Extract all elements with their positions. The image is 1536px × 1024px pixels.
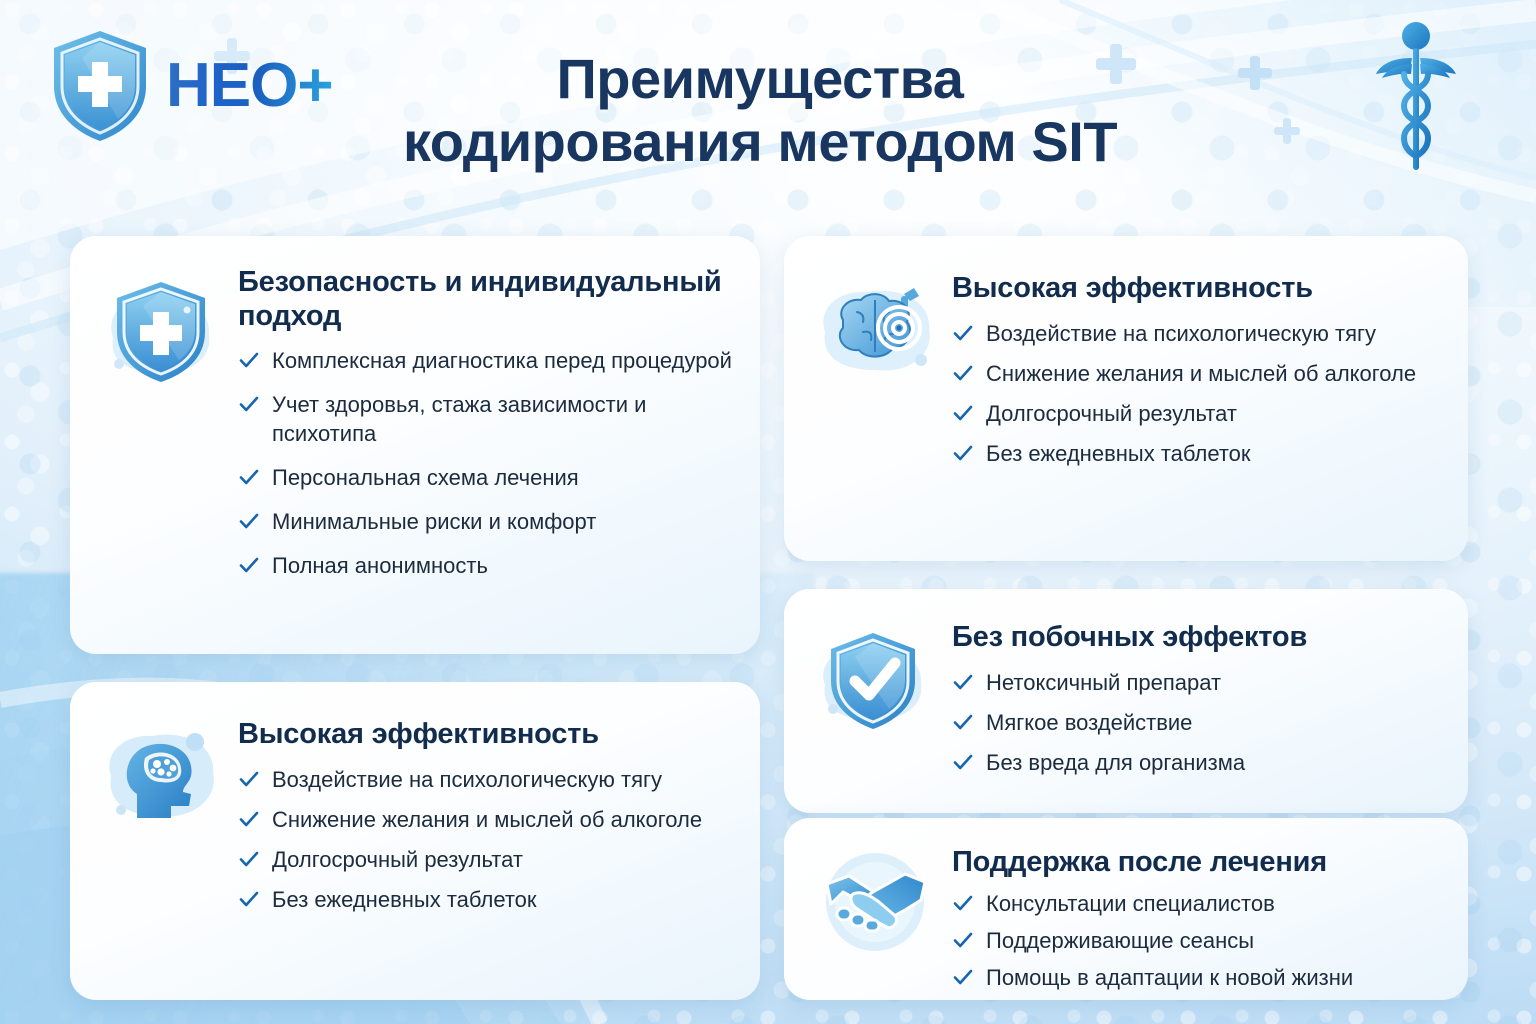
check-icon <box>238 349 260 371</box>
list-item-text: Полная анонимность <box>272 553 488 578</box>
list-item: Воздействие на психологическую тягу <box>238 766 734 794</box>
card-efficiency-top[interactable]: Высокая эффективность Воздействие на пси… <box>784 236 1468 561</box>
list-item: Полная анонимность <box>238 552 734 580</box>
list-item-text: Комплексная диагностика перед процедурой <box>272 348 732 373</box>
list-item: Воздействие на психологическую тягу <box>952 320 1442 348</box>
list-item-text: Учет здоровья, стажа зависимости и психо… <box>272 392 646 445</box>
card-safety[interactable]: Безопасность и индивидуальный подход Ком… <box>70 236 760 654</box>
check-icon <box>952 892 974 914</box>
caduceus-icon <box>1374 18 1458 178</box>
head-brain-icon <box>95 720 231 840</box>
list-item-text: Воздействие на психологическую тягу <box>272 767 662 792</box>
list-item: Снижение желания и мыслей об алкоголе <box>952 360 1442 388</box>
check-icon <box>238 808 260 830</box>
header: НЕО+ Преимущества кодирования методом SI… <box>0 0 1536 210</box>
list-item: Нетоксичный препарат <box>952 669 1442 697</box>
brain-target-icon <box>809 274 945 394</box>
list-item-text: Помощь в адаптации к новой жизни <box>986 965 1353 990</box>
list-item-text: Персональная схема лечения <box>272 465 579 490</box>
check-icon <box>238 554 260 576</box>
list-item-text: Консультации специалистов <box>986 891 1275 916</box>
list-item-text: Снижение желания и мыслей об алкоголе <box>272 807 702 832</box>
list-item: Снижение желания и мыслей об алкоголе <box>238 806 734 834</box>
brand-logo[interactable]: НЕО+ <box>48 28 333 144</box>
card-no-side-effects[interactable]: Без побочных эффектов Нетоксичный препар… <box>784 589 1468 813</box>
card-icon-wrap <box>88 258 238 636</box>
check-icon <box>952 966 974 988</box>
check-icon <box>952 402 974 424</box>
card-bullet-list: Нетоксичный препарат Мягкое воздействие … <box>952 669 1442 777</box>
list-item-text: Нетоксичный препарат <box>986 670 1221 695</box>
card-bullet-list: Воздействие на психологическую тягу Сниж… <box>238 766 734 915</box>
card-title: Безопасность и индивидуальный подход <box>238 266 734 333</box>
card-icon-wrap <box>802 264 952 543</box>
list-item: Учет здоровья, стажа зависимости и психо… <box>238 391 734 447</box>
list-item: Мягкое воздействие <box>952 709 1442 737</box>
list-item: Поддерживающие сеансы <box>952 927 1442 955</box>
list-item: Без ежедневных таблеток <box>238 886 734 914</box>
handshake-icon <box>809 848 945 956</box>
check-icon <box>238 510 260 532</box>
card-bullet-list: Консультации специалистов Поддерживающие… <box>952 890 1442 992</box>
check-icon <box>952 751 974 773</box>
list-item: Без ежедневных таблеток <box>952 440 1442 468</box>
list-item-text: Без вреда для организма <box>986 750 1245 775</box>
page-title: Преимущества кодирования методом SIT <box>300 48 1220 173</box>
list-item-text: Минимальные риски и комфорт <box>272 509 596 534</box>
list-item: Минимальные риски и комфорт <box>238 508 734 536</box>
list-item-text: Без ежедневных таблеток <box>986 441 1251 466</box>
list-item: Долгосрочный результат <box>952 400 1442 428</box>
card-efficiency-bottom[interactable]: Высокая эффективность Воздействие на пси… <box>70 682 760 1000</box>
list-item-text: Без ежедневных таблеток <box>272 887 537 912</box>
card-title: Поддержка после лечения <box>952 846 1442 880</box>
card-title: Высокая эффективность <box>238 718 734 752</box>
check-icon <box>238 888 260 910</box>
card-icon-wrap <box>88 710 238 982</box>
card-bullet-list: Комплексная диагностика перед процедурой… <box>238 347 734 580</box>
card-title: Высокая эффективность <box>952 272 1442 306</box>
check-icon <box>238 848 260 870</box>
page-title-line2: кодирования методом SIT <box>300 111 1220 174</box>
card-icon-wrap <box>802 613 952 795</box>
list-item: Персональная схема лечения <box>238 464 734 492</box>
list-item-text: Поддерживающие сеансы <box>986 928 1254 953</box>
shield-cross-icon <box>95 268 231 388</box>
list-item: Комплексная диагностика перед процедурой <box>238 347 734 375</box>
check-icon <box>952 929 974 951</box>
check-icon <box>238 393 260 415</box>
list-item-text: Долгосрочный результат <box>272 847 523 872</box>
card-support[interactable]: Поддержка после лечения Консультации спе… <box>784 818 1468 1000</box>
list-item: Помощь в адаптации к новой жизни <box>952 964 1442 992</box>
infographic-canvas: НЕО+ Преимущества кодирования методом SI… <box>0 0 1536 1024</box>
shield-cross-icon <box>48 28 152 144</box>
shield-check-icon <box>809 623 945 739</box>
list-item: Долгосрочный результат <box>238 846 734 874</box>
page-title-line1: Преимущества <box>300 48 1220 111</box>
check-icon <box>238 768 260 790</box>
check-icon <box>952 362 974 384</box>
list-item-text: Воздействие на психологическую тягу <box>986 321 1376 346</box>
card-title: Без побочных эффектов <box>952 621 1442 655</box>
check-icon <box>952 671 974 693</box>
check-icon <box>952 711 974 733</box>
check-icon <box>952 322 974 344</box>
check-icon <box>238 466 260 488</box>
list-item: Консультации специалистов <box>952 890 1442 918</box>
card-bullet-list: Воздействие на психологическую тягу Сниж… <box>952 320 1442 469</box>
card-icon-wrap <box>802 838 952 982</box>
list-item: Без вреда для организма <box>952 749 1442 777</box>
check-icon <box>952 442 974 464</box>
list-item-text: Долгосрочный результат <box>986 401 1237 426</box>
list-item-text: Снижение желания и мыслей об алкоголе <box>986 361 1416 386</box>
list-item-text: Мягкое воздействие <box>986 710 1192 735</box>
